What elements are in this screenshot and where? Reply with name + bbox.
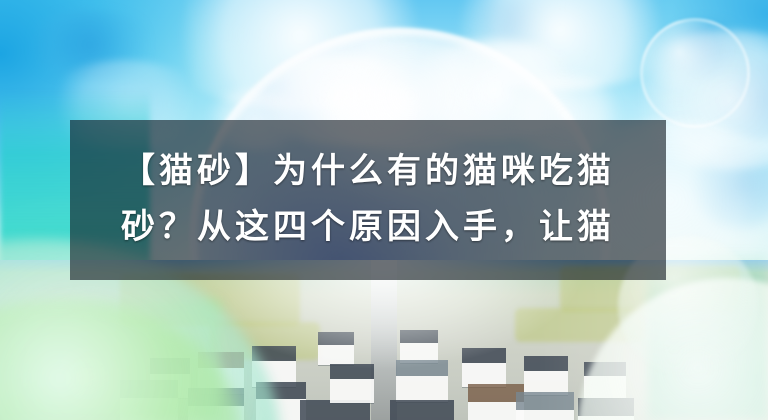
caption-band: 【猫砂】为什么有的猫咪吃猫 砂？从这四个原因入手，让猫 (70, 120, 666, 280)
green-overlay-bottom-left (0, 300, 220, 420)
caption-line-2: 砂？从这四个原因入手，让猫 (121, 211, 615, 245)
small-bubble-top-right (640, 18, 750, 128)
caption-line-1: 【猫砂】为什么有的猫咪吃猫 (121, 155, 615, 189)
banner-image: 【猫砂】为什么有的猫咪吃猫 砂？从这四个原因入手，让猫 (0, 0, 768, 420)
green-overlay-bottom-right (648, 250, 768, 420)
